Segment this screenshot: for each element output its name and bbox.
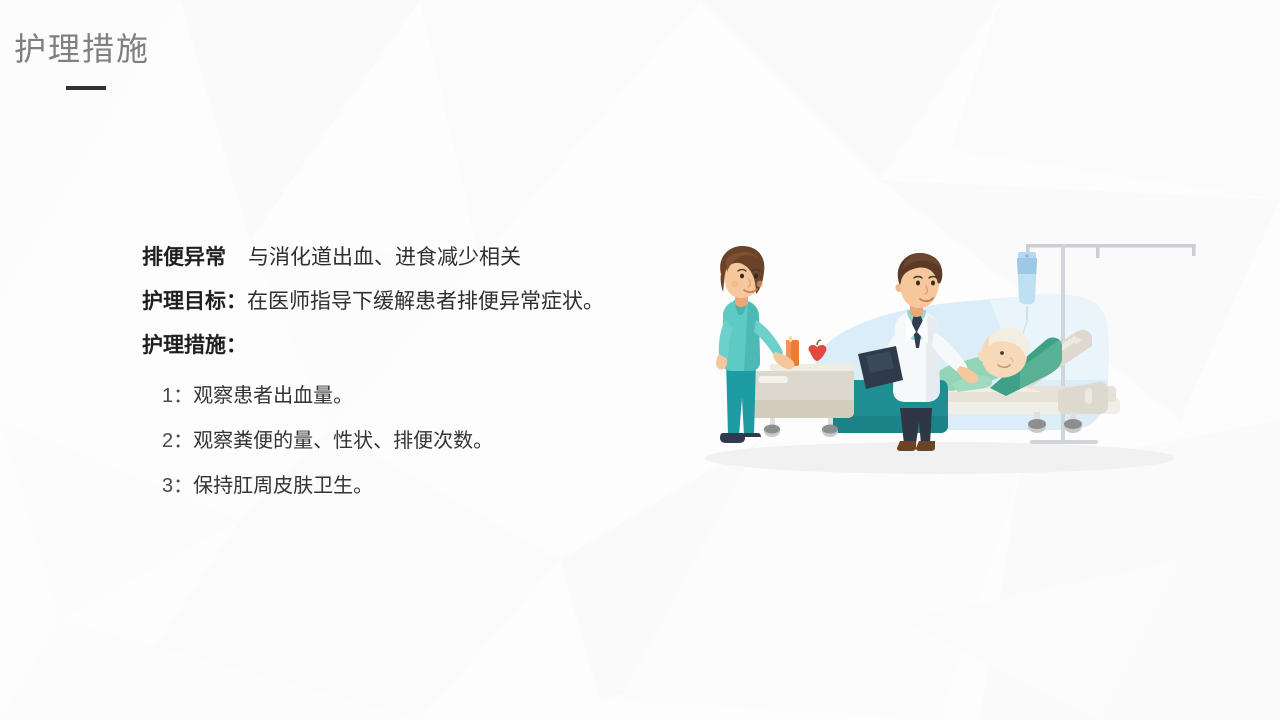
nurse-head	[720, 246, 764, 298]
line2-label: 护理目标：	[142, 290, 247, 313]
table-drawer-handle	[758, 376, 788, 383]
doctor-shoe-right	[916, 441, 935, 451]
nurse-eye-right	[754, 274, 758, 279]
floor-shadow-ellipse	[705, 442, 1175, 474]
list-item: 2：观察粪便的量、性状、排便次数。	[162, 419, 632, 464]
nurse-eye-left	[740, 274, 744, 279]
content-line-1: 排便异常与消化道出血、进食减少相关	[142, 236, 702, 280]
title-underline-bar	[66, 86, 106, 90]
line2-text: 在医师指导下缓解患者排便异常症状。	[247, 290, 604, 313]
title-block: 护理措施	[14, 30, 414, 68]
slide-root: 护理措施 排便异常与消化道出血、进食减少相关 护理目标：在医师指导下缓解患者排便…	[0, 0, 1280, 720]
measure-number: 3：	[162, 464, 193, 509]
doctor-legs	[900, 408, 932, 444]
doctor-shoe-left	[897, 441, 916, 451]
list-item: 1：观察患者出血量。	[162, 374, 632, 419]
measure-text: 保持肛周皮肤卫生。	[193, 475, 373, 497]
measure-text: 观察患者出血量。	[193, 385, 353, 407]
nurse-legs	[726, 360, 756, 436]
doctor-eye-right	[931, 281, 935, 286]
content-text-block: 排便异常与消化道出血、进食减少相关 护理目标：在医师指导下缓解患者排便异常症状。…	[142, 236, 702, 368]
doctor-coat-shade	[926, 314, 940, 402]
measures-list: 1：观察患者出血量。 2：观察粪便的量、性状、排便次数。 3：保持肛周皮肤卫生。	[162, 374, 632, 509]
hospital-ward-illustration	[690, 240, 1200, 485]
doctor-eye-left	[916, 281, 920, 286]
content-line-2: 护理目标：在医师指导下缓解患者排便异常症状。	[142, 280, 702, 324]
measure-text: 观察粪便的量、性状、排便次数。	[193, 430, 493, 452]
patient-eye	[1000, 351, 1004, 355]
doctor-head	[896, 253, 943, 308]
line1-text: 与消化道出血、进食减少相关	[248, 246, 521, 269]
measure-number: 1：	[162, 374, 193, 419]
list-item: 3：保持肛周皮肤卫生。	[162, 464, 632, 509]
line3-label: 护理措施：	[142, 334, 247, 357]
nurse-shoe-right	[740, 433, 761, 437]
line1-label: 排便异常	[142, 246, 226, 269]
content-line-3: 护理措施：	[142, 324, 702, 368]
measure-number: 2：	[162, 419, 193, 464]
page-title: 护理措施	[14, 30, 414, 68]
